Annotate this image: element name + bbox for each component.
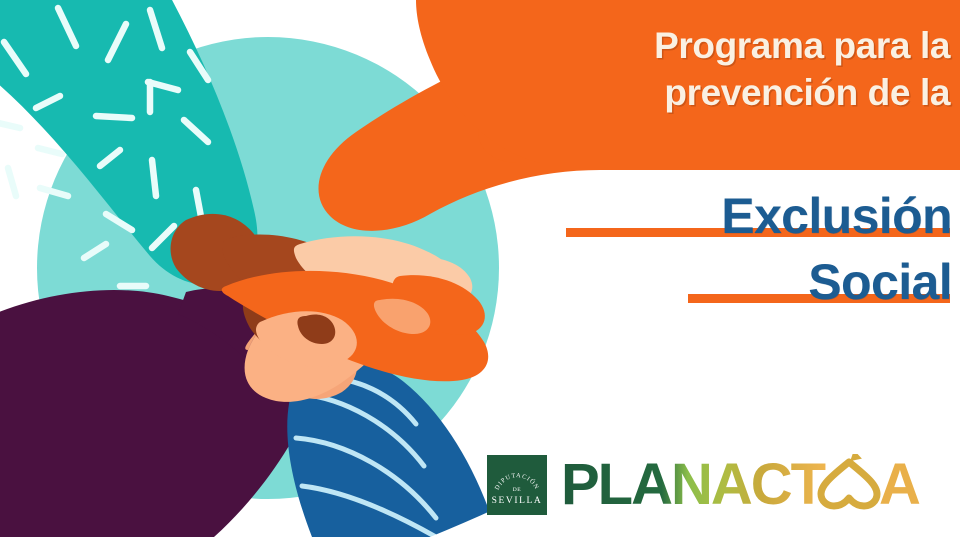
- logo-lockup[interactable]: DIPUTACIÓN DE SEVILLA PLANACT A: [487, 452, 960, 518]
- poster-canvas: Programa para la prevención de la Exclus…: [0, 0, 960, 537]
- planactua-text-left: PLANACT: [561, 454, 826, 516]
- diputacion-crest-icon: DIPUTACIÓN DE SEVILLA: [489, 457, 545, 513]
- heart-u-icon: [821, 454, 877, 506]
- diputacion-de-sevilla-logo[interactable]: DIPUTACIÓN DE SEVILLA: [487, 455, 547, 515]
- diputacion-sevilla-text: SEVILLA: [492, 496, 543, 506]
- subheading-line-2: Social: [520, 249, 952, 315]
- subheading-line-1-label: Exclusión: [721, 188, 952, 244]
- planactua-wordmark[interactable]: PLANACT A: [561, 454, 960, 516]
- planactua-text-right: A: [879, 454, 920, 516]
- subheading-line-2-label: Social: [808, 254, 952, 310]
- orange-banner-shape: [478, 0, 960, 163]
- subheading-line-1: Exclusión: [520, 183, 952, 249]
- diputacion-de-text: DE: [513, 487, 522, 493]
- subheading-text: Exclusión Social: [520, 183, 952, 315]
